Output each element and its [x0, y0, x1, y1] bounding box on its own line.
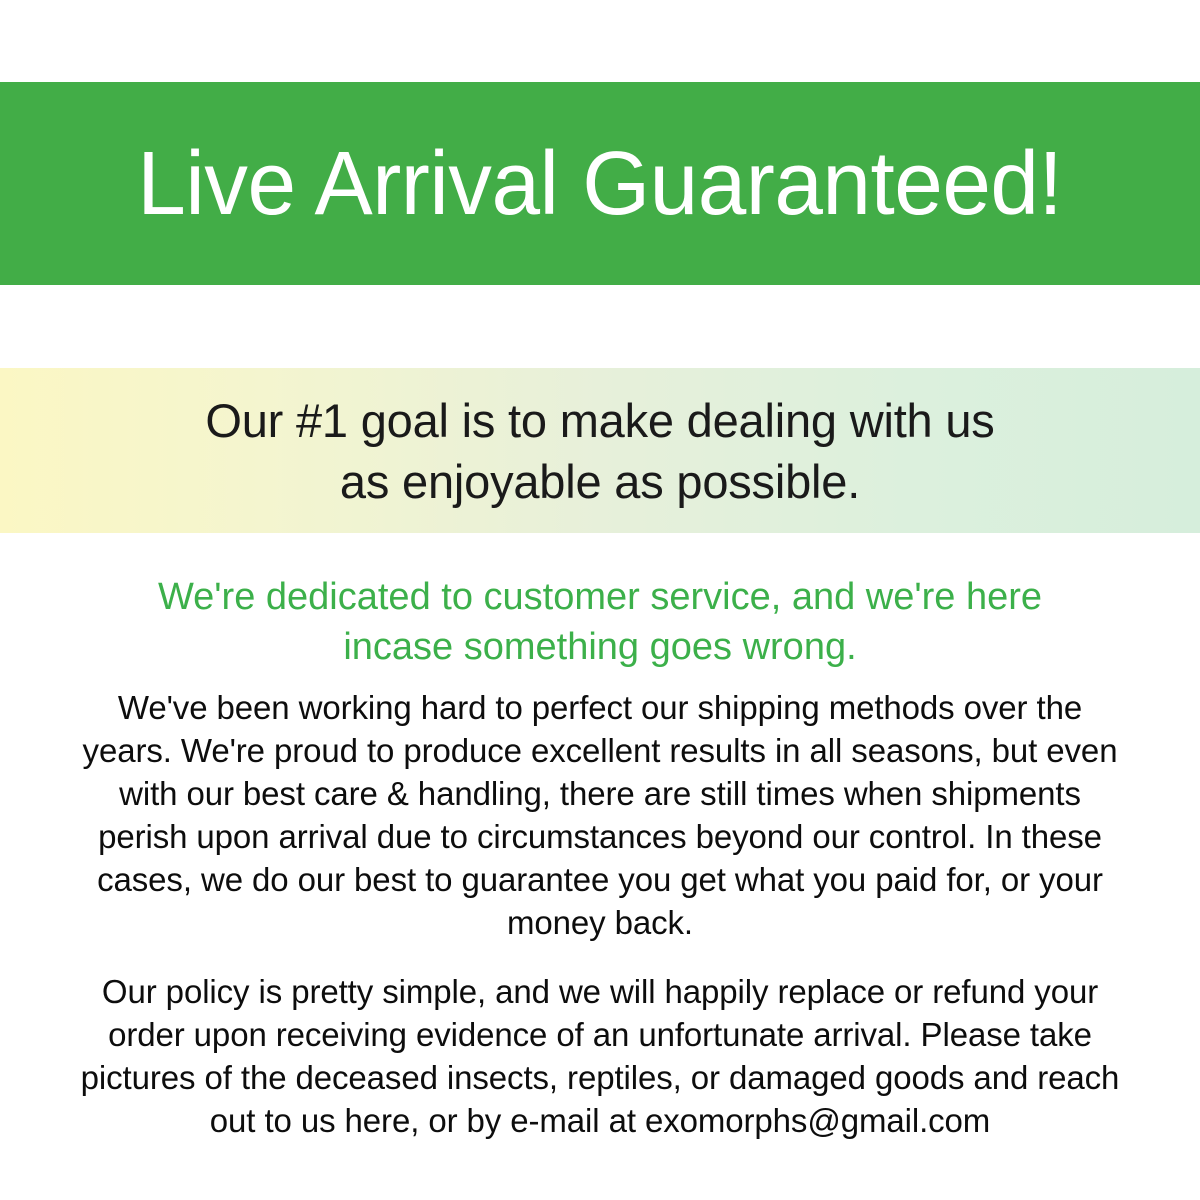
- body-subheading: We're dedicated to customer service, and…: [120, 572, 1080, 672]
- tagline-band: Our #1 goal is to make dealing with us a…: [0, 368, 1200, 533]
- body-paragraph-1: We've been working hard to perfect our s…: [70, 686, 1130, 944]
- hero-title: Live Arrival Guaranteed!: [138, 139, 1063, 229]
- live-arrival-guarantee-page: Live Arrival Guaranteed! Our #1 goal is …: [0, 0, 1200, 1200]
- tagline-line-1: Our #1 goal is to make dealing with us: [205, 390, 994, 451]
- body-content: We're dedicated to customer service, and…: [70, 572, 1130, 1142]
- hero-banner: Live Arrival Guaranteed!: [0, 82, 1200, 285]
- tagline-line-2: as enjoyable as possible.: [340, 451, 860, 512]
- body-paragraph-2: Our policy is pretty simple, and we will…: [70, 970, 1130, 1142]
